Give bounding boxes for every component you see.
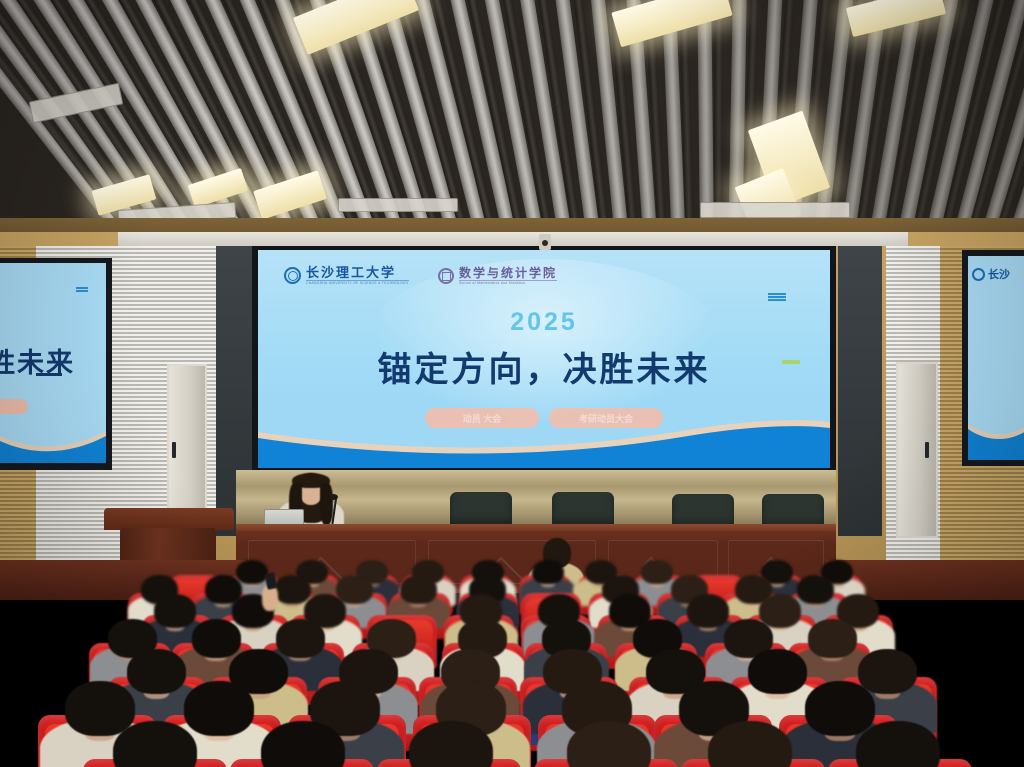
door-handle-left[interactable]: [172, 442, 176, 458]
attendee-head: [400, 575, 437, 604]
attendee-phone: [264, 572, 277, 590]
right-side-monitor[interactable]: 长沙: [962, 250, 1024, 466]
attendee-head: [687, 594, 730, 627]
slide-year: 2025: [258, 308, 830, 337]
left-side-monitor[interactable]: 胜未来: [0, 258, 112, 470]
door-handle-right[interactable]: [925, 442, 929, 458]
audience-seating: [0, 557, 1024, 767]
main-projection-screen[interactable]: 长沙理工大学 CHANGSHA UNIVERSITY OF SCIENCE & …: [258, 250, 830, 468]
attendee-head: [808, 619, 857, 657]
right-side-monitor-screen: 长沙: [968, 256, 1024, 460]
blue-lines-mark-icon: [768, 293, 786, 302]
stage-chair-2[interactable]: [552, 492, 614, 526]
screen-soffit: [118, 232, 908, 246]
attendee-head: [641, 560, 673, 585]
attendee-head: [236, 560, 268, 585]
ceiling-camera: [539, 234, 551, 250]
school-logo-en: School of Mathematics and Statistics: [459, 280, 557, 285]
camera-lens-icon: [542, 240, 548, 246]
slide-wave-graphic: [258, 410, 830, 468]
left-monitor-underline: [36, 373, 62, 376]
auditorium-photo: 长沙理工大学 CHANGSHA UNIVERSITY OF SCIENCE & …: [0, 0, 1024, 767]
main-screen-frame: 长沙理工大学 CHANGSHA UNIVERSITY OF SCIENCE & …: [252, 246, 836, 472]
university-logo-cn: 长沙理工大学: [306, 266, 409, 279]
side-door-right[interactable]: [896, 362, 938, 538]
left-monitor-pill: [0, 399, 28, 414]
attendee-head: [797, 575, 834, 604]
attendee-head: [154, 594, 197, 627]
left-side-monitor-screen: 胜未来: [0, 263, 106, 463]
podium-top: [104, 508, 234, 530]
attendee-head: [759, 594, 802, 627]
school-logo-cn: 数学与统计学院: [459, 267, 557, 279]
stage-chair-1[interactable]: [450, 492, 512, 526]
dark-wall-strip-right: [838, 246, 882, 536]
stage-chair-4[interactable]: [762, 494, 824, 528]
attendee-head: [274, 575, 311, 604]
attendee-head: [127, 649, 185, 695]
university-logo-mark: [284, 267, 301, 284]
slat-ceiling: [0, 0, 1024, 240]
right-monitor-text: 长沙: [988, 266, 1010, 282]
attendee-head: [748, 649, 806, 695]
attendee-head: [858, 649, 916, 695]
microphone-head-icon: [329, 494, 338, 500]
right-monitor-wave: [968, 408, 1024, 460]
university-logo: 长沙理工大学 CHANGSHA UNIVERSITY OF SCIENCE & …: [284, 266, 409, 285]
ceiling-vent: [338, 198, 458, 212]
school-logo: 数学与统计学院 School of Mathematics and Statis…: [438, 267, 557, 285]
stage-chair-3[interactable]: [672, 494, 734, 528]
attendee-head: [192, 619, 241, 657]
school-logo-mark: [438, 268, 454, 284]
left-monitor-wave: [0, 417, 106, 463]
ceiling-slats: [0, 0, 1024, 240]
slide-title: 锚定方向，决胜未来: [258, 342, 830, 391]
attendee-head: [65, 681, 134, 736]
left-monitor-lines-icon: [76, 287, 88, 293]
attendee-head: [532, 560, 564, 585]
attendee-head: [184, 681, 253, 736]
right-monitor-logo: 长沙: [972, 266, 1010, 282]
speaker-hair-right: [320, 483, 333, 525]
ceiling-vent: [700, 202, 850, 218]
attendee-head: [276, 619, 325, 657]
attendee-head: [805, 681, 874, 736]
university-logo-en: CHANGSHA UNIVERSITY OF SCIENCE & TECHNOL…: [306, 280, 409, 285]
